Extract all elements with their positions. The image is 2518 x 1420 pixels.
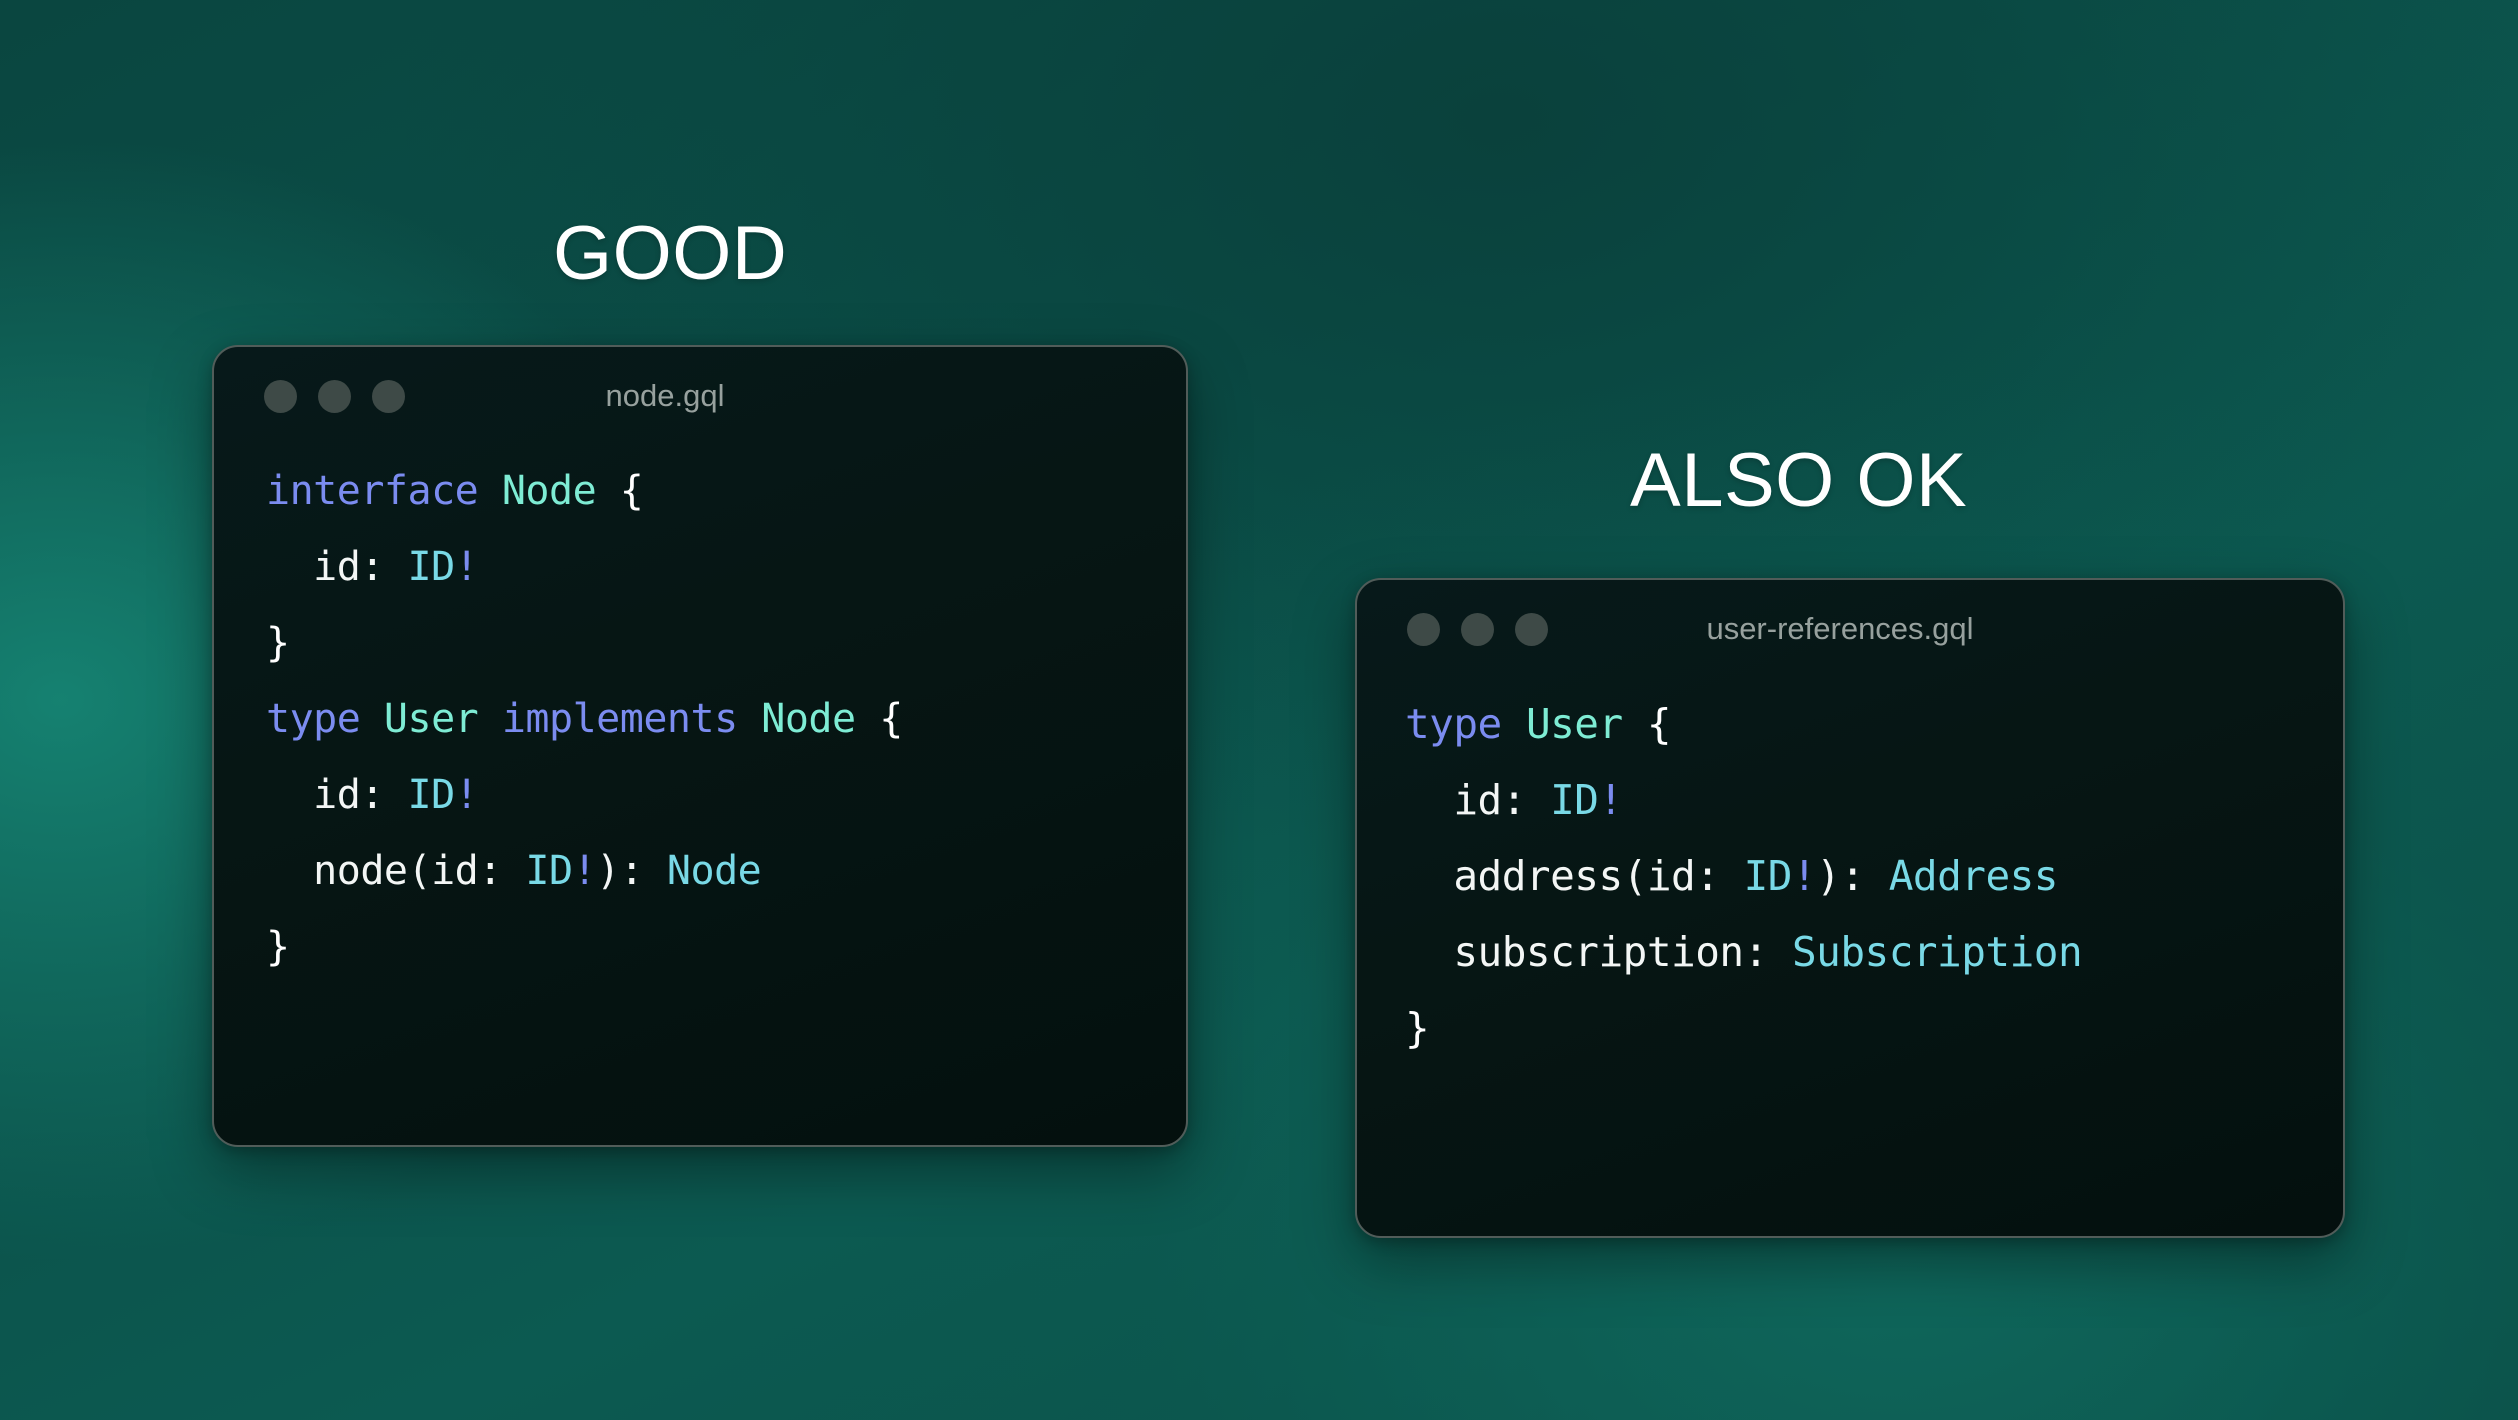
code-token-plain: node(id: (266, 848, 525, 894)
code-token-scalar: ID (1744, 852, 1792, 900)
code-line: node(id: ID!): Node (266, 833, 1186, 909)
code-token-plain: id: (1405, 776, 1550, 824)
code-token-scalar: ID (1550, 776, 1598, 824)
code-line: id: ID! (1405, 762, 2343, 838)
code-token-plain (478, 696, 502, 742)
code-block-also-ok[interactable]: type User { id: ID! address(id: ID!): Ad… (1357, 678, 2343, 1066)
code-line: subscription: Subscription (1405, 914, 2343, 990)
code-window-good[interactable]: node.gql interface Node { id: ID!}type U… (212, 345, 1188, 1147)
code-token-plain: id: (266, 544, 408, 590)
close-dot-icon[interactable] (1407, 613, 1440, 646)
minimize-dot-icon[interactable] (318, 380, 351, 413)
code-token-plain (1502, 700, 1526, 748)
code-token-type: Node (761, 696, 855, 742)
heading-good: GOOD (553, 210, 787, 297)
code-line: } (266, 605, 1186, 681)
code-token-punc: { (1647, 700, 1671, 748)
code-token-keyword: type (266, 696, 360, 742)
titlebar-good: node.gql (214, 347, 1186, 445)
code-token-punc: } (266, 620, 290, 666)
code-line: address(id: ID!): Address (1405, 838, 2343, 914)
code-line: type User { (1405, 686, 2343, 762)
slide-canvas: GOOD node.gql interface Node { id: ID!}t… (0, 0, 2518, 1420)
code-block-good[interactable]: interface Node { id: ID!}type User imple… (214, 445, 1186, 985)
code-window-also-ok[interactable]: user-references.gql type User { id: ID! … (1355, 578, 2345, 1238)
code-token-plain: id: (266, 772, 408, 818)
code-token-plain: address(id: (1405, 852, 1744, 900)
titlebar-also-ok: user-references.gql (1357, 580, 2343, 678)
code-token-plain (596, 468, 620, 514)
code-token-punc: { (879, 696, 903, 742)
traffic-lights-good (264, 380, 405, 413)
code-token-punc: { (620, 468, 644, 514)
code-token-scalar: ID (408, 772, 455, 818)
code-token-bang: ! (1792, 852, 1816, 900)
code-token-punc: } (266, 924, 290, 970)
code-line: } (266, 909, 1186, 985)
code-token-plain: ): (596, 848, 667, 894)
code-line: id: ID! (266, 757, 1186, 833)
close-dot-icon[interactable] (264, 380, 297, 413)
code-token-bang: ! (455, 772, 479, 818)
code-token-punc: } (1405, 1004, 1429, 1052)
code-token-keyword: type (1405, 700, 1502, 748)
code-token-type: User (1526, 700, 1623, 748)
code-token-type: Node (502, 468, 596, 514)
code-line: id: ID! (266, 529, 1186, 605)
code-token-plain (738, 696, 762, 742)
code-token-scalar: ID (525, 848, 572, 894)
code-token-plain: ): (1816, 852, 1889, 900)
minimize-dot-icon[interactable] (1461, 613, 1494, 646)
code-token-bang: ! (573, 848, 597, 894)
code-token-plain (856, 696, 880, 742)
code-line: type User implements Node { (266, 681, 1186, 757)
code-token-plain (1623, 700, 1647, 748)
code-line: interface Node { (266, 453, 1186, 529)
code-token-keyword: implements (502, 696, 738, 742)
code-token-plain (478, 468, 502, 514)
traffic-lights-also-ok (1407, 613, 1548, 646)
maximize-dot-icon[interactable] (372, 380, 405, 413)
code-token-plain (360, 696, 384, 742)
code-token-bang: ! (1598, 776, 1622, 824)
code-token-scalar: Node (667, 848, 761, 894)
heading-also-ok: ALSO OK (1630, 437, 1967, 524)
code-token-type: User (384, 696, 478, 742)
maximize-dot-icon[interactable] (1515, 613, 1548, 646)
code-token-scalar: Address (1889, 852, 2058, 900)
code-line: } (1405, 990, 2343, 1066)
code-token-keyword: interface (266, 468, 478, 514)
code-token-bang: ! (455, 544, 479, 590)
code-token-scalar: ID (408, 544, 455, 590)
code-token-scalar: Subscription (1792, 928, 2082, 976)
code-token-plain: subscription: (1405, 928, 1792, 976)
